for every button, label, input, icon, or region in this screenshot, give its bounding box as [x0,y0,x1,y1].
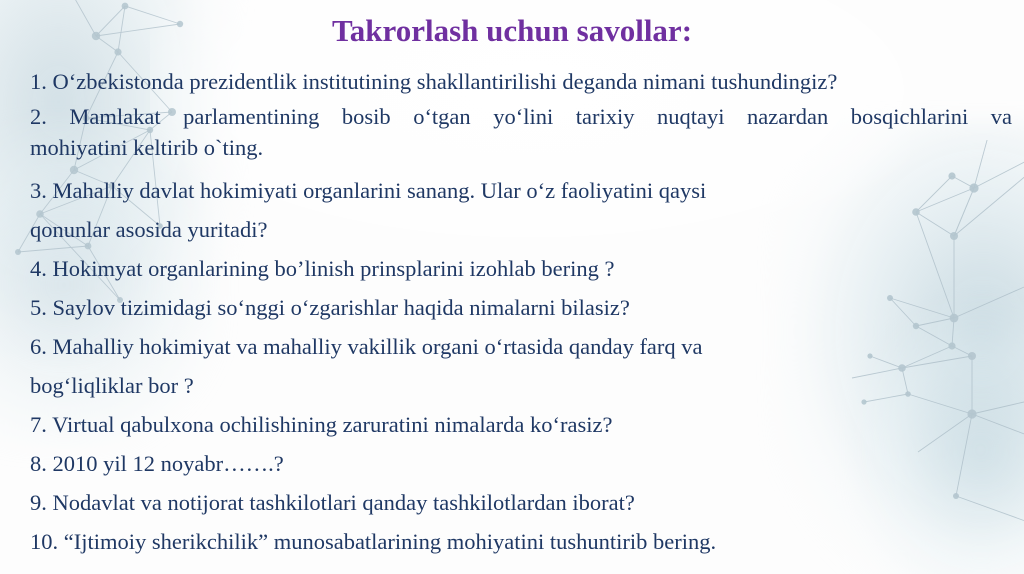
list-item: 5. Saylov tizimidagi so‘nggi o‘zgarishla… [30,288,1012,327]
list-item: 2. Mamlakat parlamentining bosib o‘tgan … [30,101,1012,132]
list-item-continuation: bog‘liqliklar bor ? [30,366,1012,405]
page-title: Takrorlash uchun savollar: [0,14,1024,48]
list-item-continuation: qonunlar asosida yuritadi? [30,210,1012,249]
list-item: 9. Nodavlat va notijorat tashkilotlari q… [30,483,1012,522]
list-item: 8. 2010 yil 12 noyabr…….? [30,444,1012,483]
list-item-continuation: mohiyatini keltirib o`ting. [30,132,1012,171]
list-item: 4. Hokimyat organlarining bo’linish prin… [30,249,1012,288]
list-item: 3. Mahalliy davlat hokimiyati organlarin… [30,171,1012,210]
question-list: 1. O‘zbekistonda prezidentlik institutin… [30,62,1012,561]
list-item: 1. O‘zbekistonda prezidentlik institutin… [30,62,1012,101]
list-item: 6. Mahalliy hokimiyat va mahalliy vakill… [30,327,1012,366]
list-item: 10. “Ijtimoiy sherikchilik” munosabatlar… [30,522,1012,561]
slide: Takrorlash uchun savollar: 1. O‘zbekisto… [0,0,1024,574]
list-item: 7. Virtual qabulxona ochilishining zarur… [30,405,1012,444]
slide-content: Takrorlash uchun savollar: 1. O‘zbekisto… [0,0,1024,574]
